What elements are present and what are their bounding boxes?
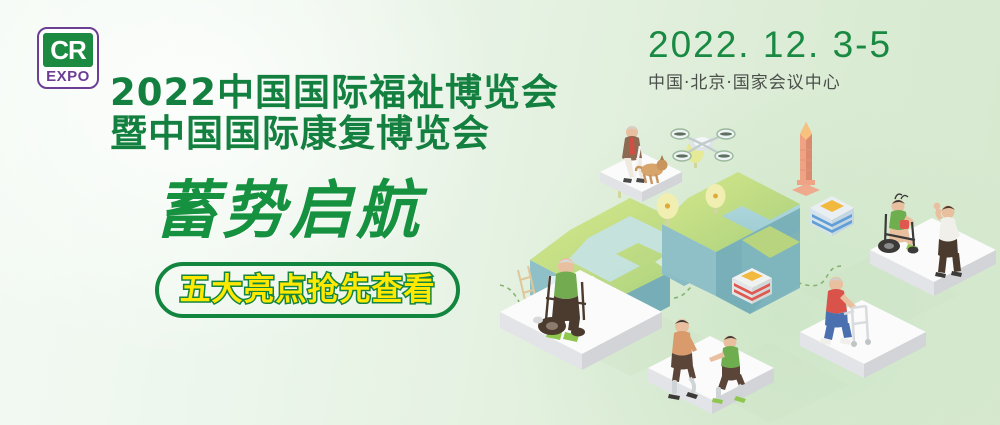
letter-r-block <box>662 172 800 314</box>
slogan-text: 蓄势启航 <box>155 176 423 246</box>
isometric-illustration <box>470 80 1000 425</box>
headline-line-2: 暨中国国际康复博览会 <box>110 114 490 154</box>
cta-button-label: 五大亮点抢先查看 <box>180 273 436 307</box>
cr-expo-logo[interactable]: CR EXPO <box>37 27 99 89</box>
event-date: 2022. 12. 3-5 <box>648 24 892 66</box>
stacked-blocks-blue <box>810 196 854 236</box>
cta-button[interactable]: 五大亮点抢先查看 <box>155 262 460 318</box>
expo-banner: CR EXPO 2022中国国际福祉博览会 暨中国国际康复博览会 蓄势启航 五大… <box>0 0 1000 425</box>
obelisk-tower <box>792 122 820 196</box>
logo-mark-square: CR <box>43 33 93 67</box>
logo-sub-text: EXPO <box>43 67 93 85</box>
logo-mark-text: CR <box>50 37 86 63</box>
logo-inner: CR EXPO <box>43 33 93 83</box>
